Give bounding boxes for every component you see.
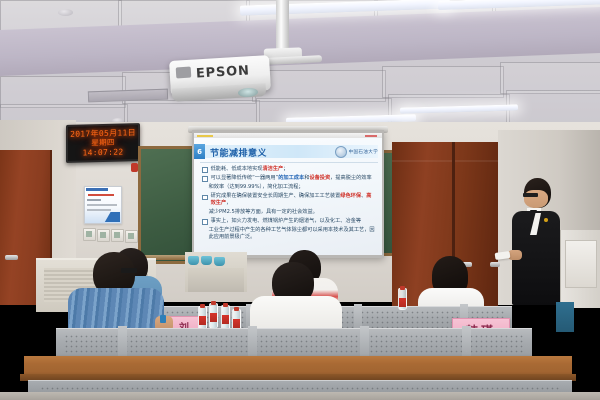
slide-bullet: 事实上，如火力发电、燃煤锅炉产生的烟道气，以及化工、冶金等 <box>202 218 376 225</box>
light-switch[interactable] <box>97 229 110 242</box>
light-switch[interactable] <box>111 229 124 242</box>
university-seal-icon <box>335 146 347 158</box>
projector-pole <box>276 0 289 52</box>
cup <box>214 257 225 266</box>
slide-title: 节能减排意义 <box>210 146 267 159</box>
desk-divider-post <box>118 326 127 360</box>
right-cabinet <box>560 230 600 308</box>
slide-page-number: 6 <box>194 144 205 159</box>
toolbar-accent <box>197 135 213 138</box>
center-cabinet-lower <box>188 268 244 292</box>
projector-vent <box>176 67 192 79</box>
chair-backrest <box>556 302 574 332</box>
glasses-icon <box>523 193 538 197</box>
slide-bullet: 低能耗、低成本地实现清洁生产； <box>202 166 376 173</box>
conference-room-photo: EPSON 2017年05月11日 星期四 14:07:22 6 节能减排意义 <box>0 0 600 400</box>
projector-brand-label: EPSON <box>196 63 250 81</box>
checkbox-bullet-icon <box>202 176 208 182</box>
smoke-detector-icon <box>58 9 73 16</box>
poster-band <box>86 188 108 191</box>
water-bottle <box>398 288 407 310</box>
slide-divider <box>200 162 378 163</box>
slide-bullet-subtext: 和效率（达到99.99%），简化加工流程； <box>209 184 376 191</box>
led-time: 14:07:22 <box>83 147 124 158</box>
university-name: 中国石油大学 <box>349 149 378 155</box>
cup <box>201 256 212 265</box>
desk-divider-post <box>462 326 471 360</box>
slide-bullet-list: 低能耗、低成本地实现清洁生产；可以显著降低传统“一器两用”的加工成本和设备投资，… <box>202 166 376 243</box>
checkbox-bullet-icon <box>202 219 208 225</box>
glasses-icon <box>121 268 137 273</box>
projection-screen: 6 节能减排意义 中国石油大学 低能耗、低成本地实现清洁生产；可以显著降低传统“… <box>194 133 382 255</box>
phone-device[interactable] <box>160 315 166 323</box>
light-switch[interactable] <box>125 230 138 243</box>
poster-band <box>88 194 114 196</box>
chalkboard <box>138 146 199 264</box>
slide-bullet-subtext: 工业生产过程中产生的各种工艺气体除尘都可以采用本技术及其工艺，因此应用前景极广泛… <box>209 227 376 240</box>
checkbox-bullet-icon <box>202 167 208 173</box>
slide-bullet-text: 可以显著降低传统“一器两用”的加工成本和设备投资，提高脱尘的效率 <box>211 175 376 182</box>
poster-band <box>87 204 117 206</box>
light-switch[interactable] <box>83 228 96 241</box>
fire-alarm-icon <box>131 163 138 172</box>
slide-toolbar <box>194 133 382 138</box>
door-handle-icon[interactable] <box>5 255 18 260</box>
door-panel-line <box>392 160 498 162</box>
slide-bullet-text: 事实上，如火力发电、燃煤锅炉产生的烟道气，以及化工、冶金等 <box>211 218 376 225</box>
checkbox-bullet-icon <box>202 195 208 201</box>
cup <box>188 256 199 265</box>
lapel-pin-icon <box>544 218 548 222</box>
door-handle-icon[interactable] <box>490 262 500 267</box>
floor <box>0 392 600 400</box>
poster-band <box>87 209 111 211</box>
water-bottle <box>209 303 218 329</box>
poster-graphic <box>96 212 120 222</box>
toolbar-accent <box>365 135 377 137</box>
poster-band <box>87 199 101 201</box>
slide-bullet-text: 研究成果在确保装置安全长周期生产、确保加工工艺装置绿色环保、高效生产， <box>211 193 376 206</box>
slide-bullet: 可以显著降低传统“一器两用”的加工成本和设备投资，提高脱尘的效率 <box>202 175 376 182</box>
slide-bullet-subtext: 减少PM2.5排放等方面，具有一定的社会效益。 <box>209 209 376 216</box>
desk-panel-perforation <box>64 334 524 354</box>
slide-bullet: 研究成果在确保装置安全长周期生产、确保加工工艺装置绿色环保、高效生产， <box>202 193 376 206</box>
led-clock-display: 2017年05月11日 星期四 14:07:22 <box>66 123 140 163</box>
desk-divider-post <box>360 326 369 360</box>
slide-bullet-text: 低能耗、低成本地实现清洁生产； <box>211 166 376 173</box>
ceiling-tile <box>506 90 600 124</box>
desk-divider-post <box>248 326 257 360</box>
slide-logo: 中国石油大学 <box>335 146 378 158</box>
